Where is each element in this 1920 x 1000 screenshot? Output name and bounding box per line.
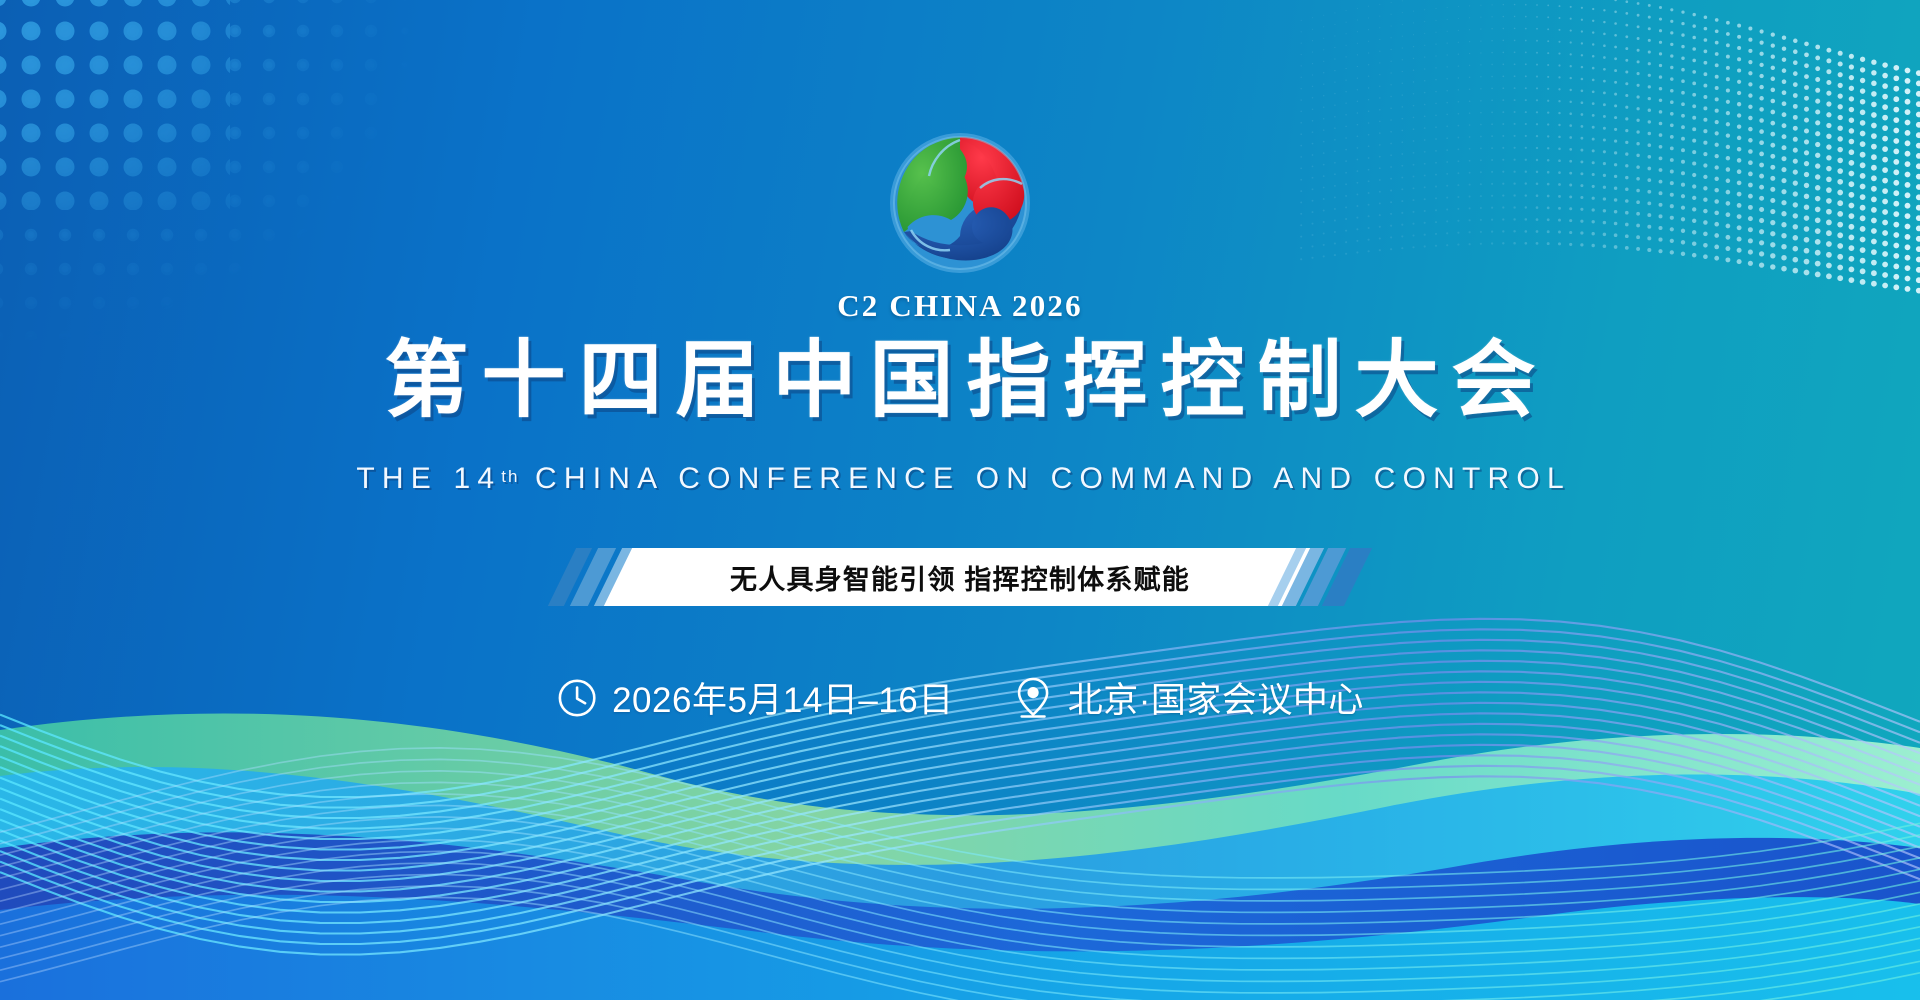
subtitle-pre: THE 14 [356, 462, 501, 495]
event-location: 北京·国家会议中心 [1012, 672, 1364, 723]
event-date-text: 2026年5月14日–16日 [612, 672, 954, 723]
subtitle-ordinal: th [501, 467, 519, 486]
page-subtitle-en: THE 14th CHINA CONFERENCE ON COMMAND AND… [349, 462, 1571, 496]
conference-banner: C2 CHINA 2026 第十四届中国指挥控制大会 THE 14th CHIN… [0, 0, 1920, 1000]
map-pin-icon [1012, 675, 1054, 721]
event-date: 2026年5月14日–16日 [556, 672, 954, 723]
clock-icon [556, 677, 598, 719]
theme-text: 无人具身智能引领 指挥控制体系赋能 [560, 548, 1360, 606]
event-location-text: 北京·国家会议中心 [1068, 672, 1364, 723]
event-meta-row: 2026年5月14日–16日 北京·国家会议中心 [556, 672, 1364, 723]
c2-china-logo [885, 128, 1035, 278]
theme-ribbon: 无人具身智能引领 指挥控制体系赋能 [560, 548, 1360, 606]
subtitle-post: CHINA CONFERENCE ON COMMAND AND CONTROL [519, 462, 1570, 495]
page-title: 第十四届中国指挥控制大会 [371, 338, 1548, 422]
logo-caption: C2 CHINA 2026 [837, 288, 1083, 324]
